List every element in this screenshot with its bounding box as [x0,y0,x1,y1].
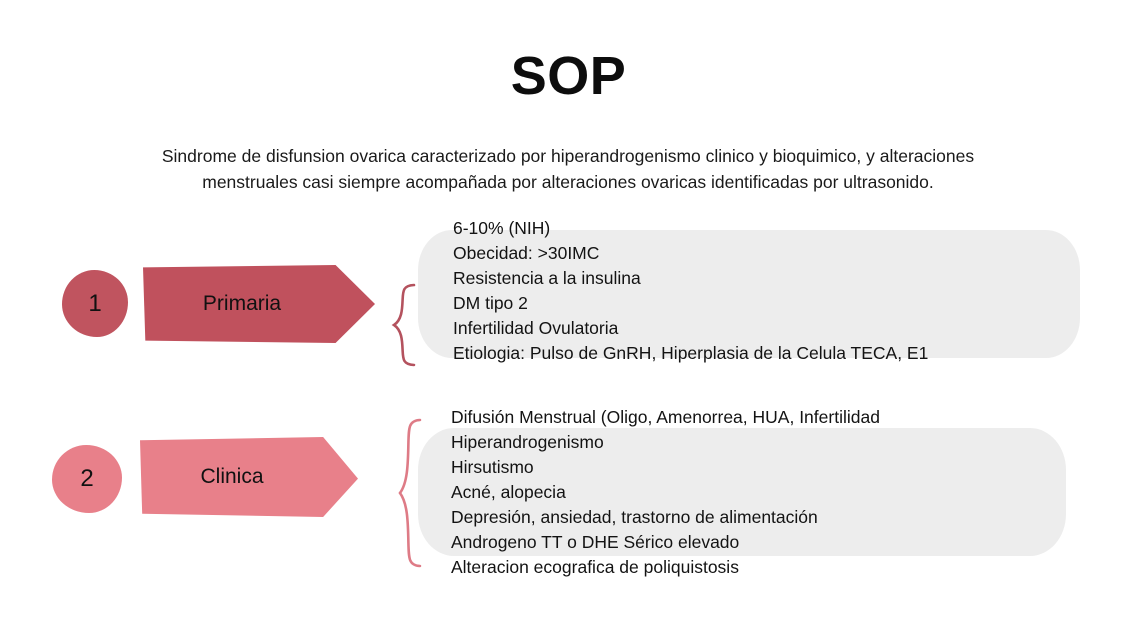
arrow-label-text: Primaria [203,292,315,316]
page-title: SOP [0,44,1137,108]
step-number-label: 1 [88,290,101,318]
list-item: Resistencia a la insulina [453,266,928,291]
curly-brace-icon-1 [390,282,420,368]
arrow-label-primaria[interactable]: Primaria [143,265,375,343]
list-item: Hirsutismo [451,455,880,480]
list-item: Alteracion ecografica de poliquistosis [451,555,880,580]
list-item: Acné, alopecia [451,480,880,505]
page-subtitle: Sindrome de disfunsion ovarica caracteri… [112,143,1024,195]
step-number-badge-1: 1 [62,270,128,337]
list-item: Infertilidad Ovulatoria [453,316,928,341]
list-item: Hiperandrogenismo [451,430,880,455]
row-clinica: 2 Clinica Difusión Menstrual (Oligo, Ame… [0,405,1137,580]
detail-list-1: 6-10% (NIH) Obecidad: >30IMC Resistencia… [453,216,928,366]
detail-list-2: Difusión Menstrual (Oligo, Amenorrea, HU… [451,405,880,580]
list-item: 6-10% (NIH) [453,216,928,241]
list-item: Obecidad: >30IMC [453,241,928,266]
step-number-label: 2 [80,465,93,493]
list-item: DM tipo 2 [453,291,928,316]
list-item: Difusión Menstrual (Oligo, Amenorrea, HU… [451,405,880,430]
list-item: Depresión, ansiedad, trastorno de alimen… [451,505,880,530]
step-number-badge-2: 2 [52,445,122,513]
list-item: Etiologia: Pulso de GnRH, Hiperplasia de… [453,341,928,366]
list-item: Androgeno TT o DHE Sérico elevado [451,530,880,555]
arrow-label-clinica[interactable]: Clinica [140,437,358,517]
arrow-label-text: Clinica [200,465,297,489]
row-primaria: 1 Primaria 6-10% (NIH) Obecidad: >30IMC … [0,210,1137,370]
